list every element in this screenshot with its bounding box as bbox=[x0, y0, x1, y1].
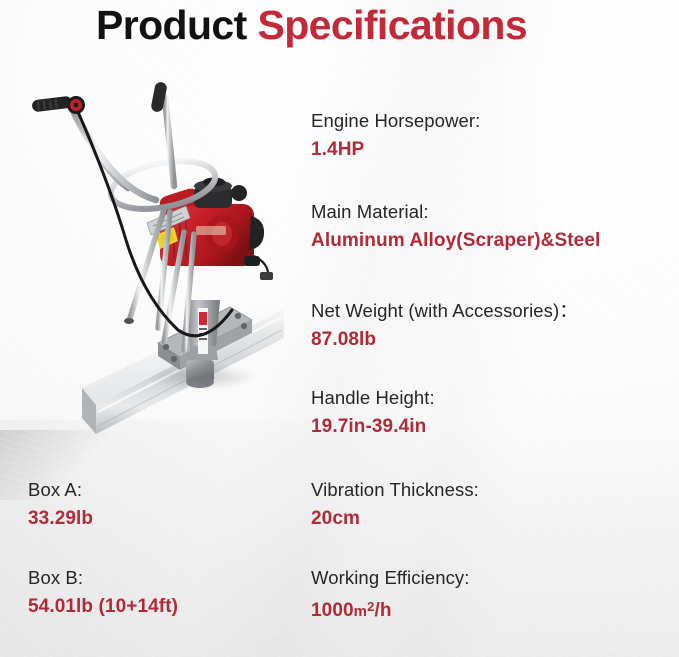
spec-box-b: Box B: 54.01lb (10+14ft) bbox=[28, 565, 178, 619]
page-title: Product Specifications bbox=[96, 0, 527, 51]
spec-label: Box B: bbox=[28, 565, 178, 590]
power-screed-illustration bbox=[8, 60, 308, 460]
spec-value: 20cm bbox=[311, 506, 479, 531]
product-image bbox=[8, 60, 308, 460]
spec-value: 33.29lb bbox=[28, 506, 93, 531]
spec-box-a: Box A: 33.29lb bbox=[28, 477, 93, 531]
spec-value: 54.01lb (10+14ft) bbox=[28, 594, 178, 619]
page-title-part-product: Product bbox=[96, 2, 257, 48]
spec-value: 1.4HP bbox=[311, 137, 480, 162]
product-specifications-page: Product Specifications bbox=[0, 0, 679, 657]
spec-vibration-thickness: Vibration Thickness: 20cm bbox=[311, 477, 479, 531]
spec-value: 19.7in-39.4in bbox=[311, 414, 435, 439]
spec-label: Box A: bbox=[28, 477, 93, 502]
wiring-connector bbox=[260, 272, 273, 280]
spec-value: 1000m2/h bbox=[311, 594, 470, 624]
spec-working-efficiency: Working Efficiency: 1000m2/h bbox=[311, 565, 470, 624]
spec-net-weight: Net Weight (with Accessories)： 87.08lb bbox=[311, 298, 578, 352]
spec-handle-height: Handle Height: 19.7in-39.4in bbox=[311, 385, 435, 439]
product-ground-shadow bbox=[128, 360, 278, 394]
spec-engine-horsepower: Engine Horsepower: 1.4HP bbox=[311, 108, 480, 162]
spec-label: Working Efficiency: bbox=[311, 565, 470, 590]
page-title-part-specifications: Specifications bbox=[257, 2, 527, 48]
spec-label: Net Weight (with Accessories)： bbox=[311, 298, 578, 323]
spec-main-material: Main Material: Aluminum Alloy(Scraper)&S… bbox=[311, 199, 600, 253]
spec-value-tail: /h bbox=[374, 600, 391, 621]
leg-foot bbox=[124, 318, 134, 324]
spec-value-number: 1000 bbox=[311, 600, 354, 621]
spec-label: Engine Horsepower: bbox=[311, 108, 480, 133]
spec-value: 87.08lb bbox=[311, 327, 578, 352]
spec-value-unit: m bbox=[354, 603, 367, 620]
handle-bars bbox=[70, 98, 174, 200]
spec-label: Handle Height: bbox=[311, 385, 435, 410]
spec-label: Vibration Thickness: bbox=[311, 477, 479, 502]
spec-value: Aluminum Alloy(Scraper)&Steel bbox=[311, 228, 600, 253]
spec-label: Main Material: bbox=[311, 199, 600, 224]
